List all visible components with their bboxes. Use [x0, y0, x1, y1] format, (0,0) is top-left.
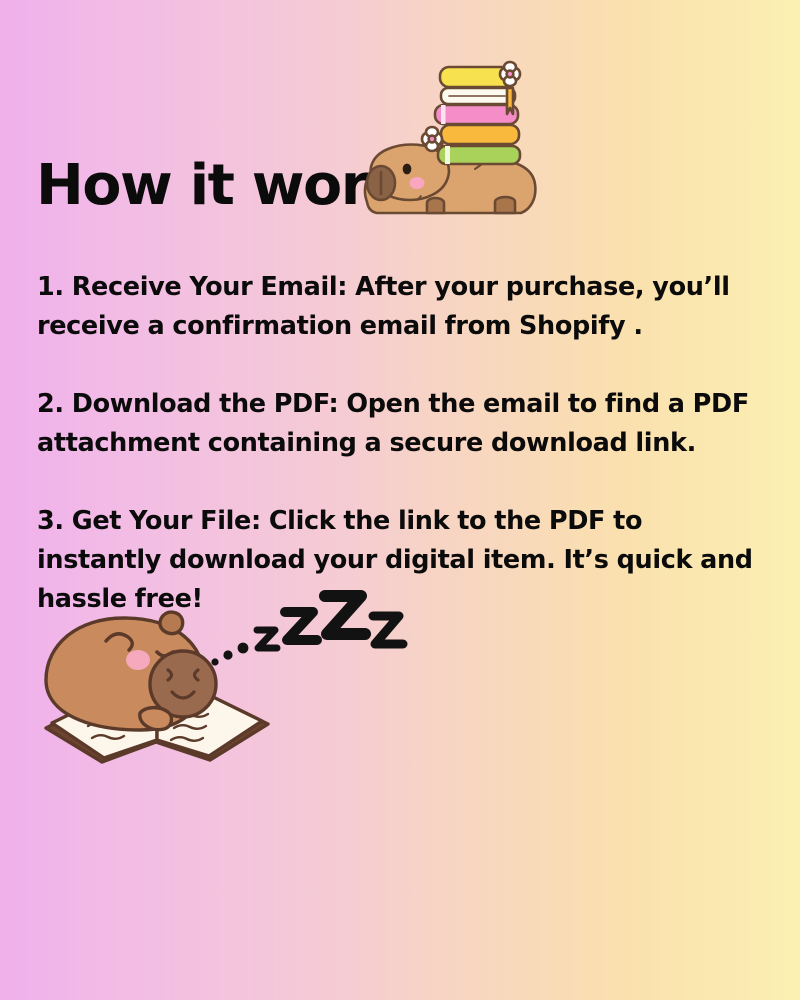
- book-pink-band: [441, 105, 446, 124]
- step-item-2: 2. Download the PDF: Open the email to f…: [37, 385, 767, 463]
- book-green-band: [445, 146, 450, 164]
- capybara-blush: [410, 177, 425, 189]
- capybara-back-foot: [495, 197, 515, 213]
- sleep-dot: [211, 658, 218, 665]
- sleeping-capybara-blush: [126, 650, 150, 670]
- bookmark-ribbon: [507, 88, 513, 114]
- capybara-with-books-illustration: [355, 52, 570, 237]
- steps-list: 1. Receive Your Email: After your purcha…: [37, 268, 767, 619]
- book-orange: [441, 125, 519, 144]
- poster-canvas: How it works: [0, 0, 800, 1000]
- sleep-z-small: [257, 630, 277, 648]
- flower-right: [500, 62, 520, 86]
- flower-left: [422, 127, 442, 151]
- sleeping-capybara-paw: [140, 708, 172, 730]
- book-green: [438, 146, 520, 164]
- sleep-dot: [223, 650, 232, 659]
- sleep-z-trailing: [373, 616, 403, 644]
- step-item-1: 1. Receive Your Email: After your purcha…: [37, 268, 767, 346]
- step-item-3: 3. Get Your File: Click the link to the …: [37, 502, 767, 619]
- capybara-eye: [403, 164, 412, 175]
- book-pink: [435, 105, 518, 124]
- sleep-dot: [238, 643, 249, 654]
- capybara-front-foot: [427, 198, 444, 213]
